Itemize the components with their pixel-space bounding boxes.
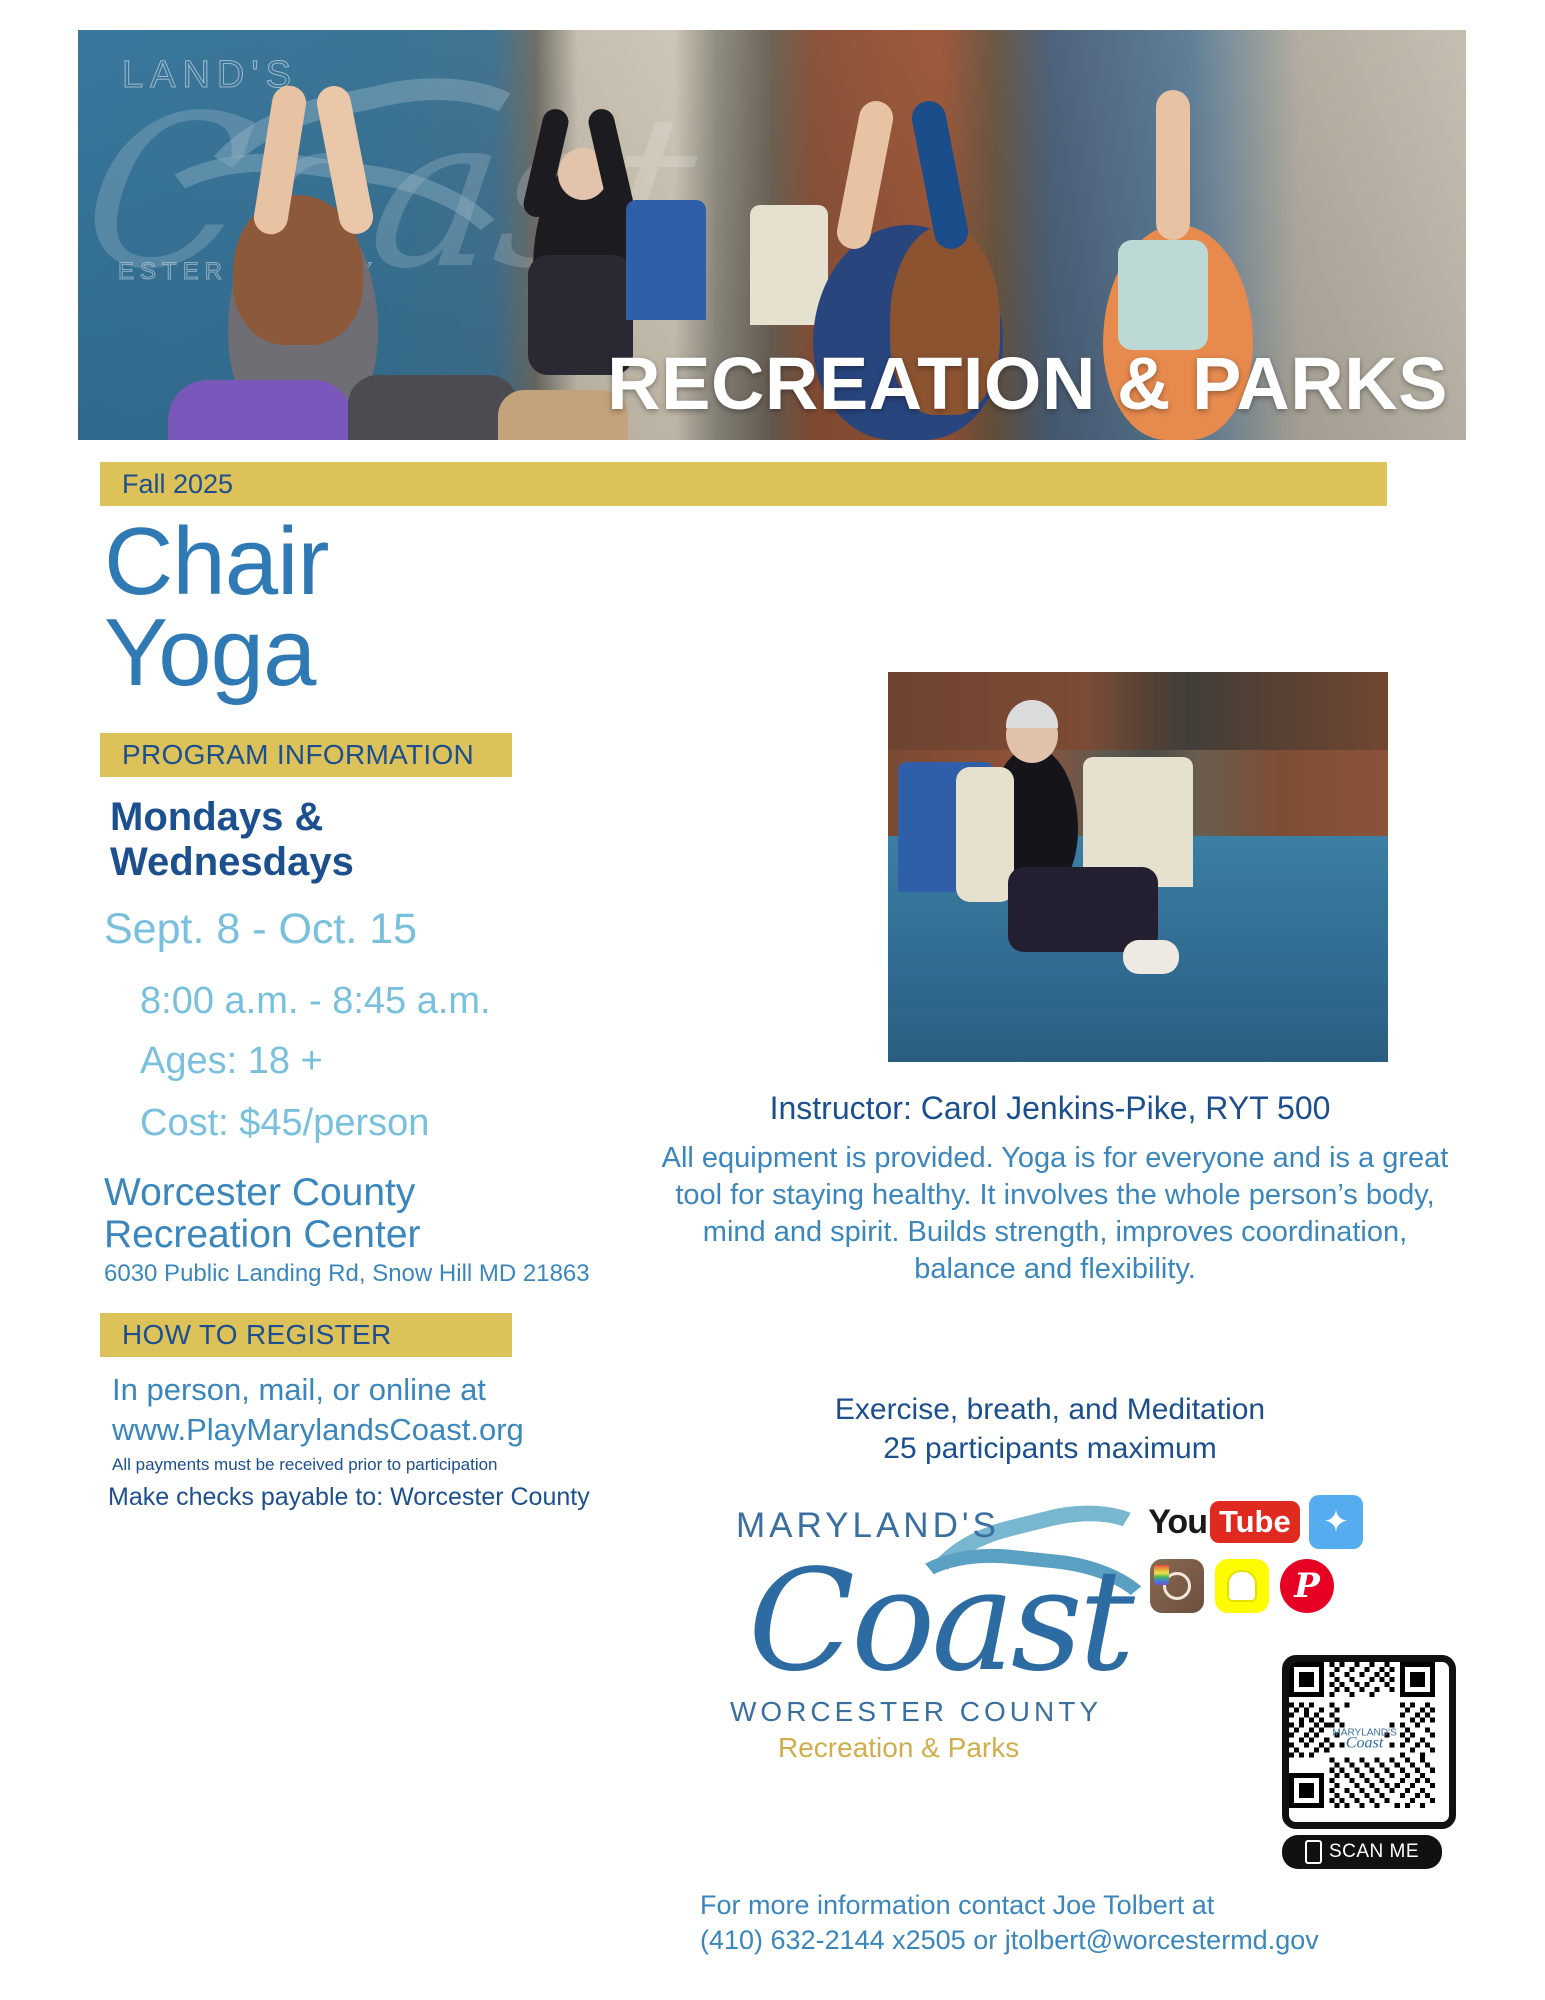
season-bar: Fall 2025 bbox=[100, 462, 1387, 506]
instagram-icon[interactable] bbox=[1150, 1559, 1204, 1613]
folding-chair-blue bbox=[626, 200, 706, 320]
program-time: 8:00 a.m. - 8:45 a.m. bbox=[140, 980, 600, 1023]
participant-purple bbox=[168, 380, 353, 440]
twitter-bird-glyph: ✦ bbox=[1323, 1504, 1349, 1540]
tagline-line1: Exercise, breath, and Meditation bbox=[700, 1390, 1400, 1429]
registration-payment-note: All payments must be received prior to p… bbox=[112, 1455, 592, 1475]
hero-title: RECREATION & PARKS bbox=[607, 341, 1448, 426]
season-label: Fall 2025 bbox=[122, 469, 233, 500]
venue-line2: Recreation Center bbox=[104, 1214, 574, 1256]
twitter-icon[interactable]: ✦ bbox=[1309, 1495, 1363, 1549]
venue-address: 6030 Public Landing Rd, Snow Hill MD 218… bbox=[104, 1260, 604, 1288]
participant-orange-arm bbox=[1156, 90, 1190, 240]
qr-code-svg: MARYLAND'S Coast bbox=[1289, 1662, 1435, 1808]
program-ages: Ages: 18 + bbox=[140, 1040, 600, 1083]
phone-icon bbox=[1305, 1840, 1322, 1864]
program-tagline: Exercise, breath, and Meditation 25 part… bbox=[700, 1390, 1400, 1468]
qr-code-image[interactable]: MARYLAND'S Coast bbox=[1282, 1655, 1456, 1829]
social-row-top: You Tube ✦ bbox=[1150, 1495, 1440, 1549]
contact-line2: (410) 632-2144 x2505 or jtolbert@worcest… bbox=[700, 1923, 1460, 1958]
photo-instructor-sock bbox=[1123, 940, 1179, 974]
contact-line1: For more information contact Joe Tolbert… bbox=[700, 1888, 1460, 1923]
photo-wall-upper bbox=[888, 672, 1388, 750]
program-information-label: PROGRAM INFORMATION bbox=[122, 739, 474, 771]
instagram-rainbow-bar bbox=[1154, 1565, 1169, 1585]
how-to-register-label: HOW TO REGISTER bbox=[122, 1319, 392, 1351]
qr-code-block[interactable]: MARYLAND'S Coast SCAN ME bbox=[1282, 1655, 1442, 1869]
folding-chair-cream bbox=[750, 205, 828, 325]
instructor-credit: Instructor: Carol Jenkins-Pike, RYT 500 bbox=[700, 1090, 1400, 1127]
venue-line1: Worcester County bbox=[104, 1172, 574, 1214]
page-title-line2: Yoga bbox=[104, 607, 584, 698]
page-title: Chair Yoga bbox=[104, 516, 584, 698]
registration-website-link[interactable]: www.PlayMarylandsCoast.org bbox=[112, 1410, 592, 1450]
participant-gray bbox=[348, 375, 518, 440]
how-to-register-bar: HOW TO REGISTER bbox=[100, 1313, 512, 1357]
youtube-tube-text: Tube bbox=[1210, 1501, 1300, 1543]
scan-me-label: SCAN ME bbox=[1329, 1841, 1419, 1863]
snapchat-icon[interactable] bbox=[1215, 1559, 1269, 1613]
instructor-photo bbox=[888, 672, 1388, 1062]
social-media-icons: You Tube ✦ P bbox=[1150, 1495, 1440, 1623]
venue-name: Worcester County Recreation Center bbox=[104, 1172, 574, 1256]
svg-text:Coast: Coast bbox=[1346, 1735, 1384, 1752]
logo-department-text: Recreation & Parks bbox=[778, 1732, 1019, 1764]
photo-instructor-jacket bbox=[956, 767, 1014, 902]
youtube-icon[interactable]: You Tube bbox=[1150, 1495, 1298, 1549]
logo-script-text: Coast bbox=[748, 1540, 1131, 1703]
hero-banner: LAND'S Coast ESTER COUNTY RECREATION & P… bbox=[78, 30, 1466, 440]
registration-line1: In person, mail, or online at bbox=[112, 1370, 592, 1410]
contact-info: For more information contact Joe Tolbert… bbox=[700, 1888, 1460, 1958]
pinterest-icon[interactable]: P bbox=[1280, 1559, 1334, 1613]
participant-teal bbox=[1118, 240, 1208, 350]
snapchat-ghost-glyph bbox=[1227, 1570, 1257, 1602]
youtube-you-text: You bbox=[1148, 1503, 1207, 1542]
scan-me-badge: SCAN ME bbox=[1282, 1835, 1442, 1869]
program-cost: Cost: $45/person bbox=[140, 1102, 600, 1145]
marylands-coast-logo: MARYLAND'S Coast WORCESTER COUNTY Recrea… bbox=[718, 1500, 1118, 1770]
registration-checks-note: Make checks payable to: Worcester County bbox=[108, 1483, 608, 1512]
pinterest-p-glyph: P bbox=[1294, 1566, 1320, 1606]
logo-county-text: WORCESTER COUNTY bbox=[730, 1696, 1102, 1728]
social-row-bottom: P bbox=[1150, 1559, 1440, 1613]
program-date-range: Sept. 8 - Oct. 15 bbox=[104, 905, 574, 954]
page-title-line1: Chair bbox=[104, 516, 584, 607]
program-description: All equipment is provided. Yoga is for e… bbox=[660, 1140, 1450, 1288]
program-information-bar: PROGRAM INFORMATION bbox=[100, 733, 512, 777]
program-days: Mondays & Wednesdays bbox=[110, 795, 530, 885]
registration-methods: In person, mail, or online at www.PlayMa… bbox=[112, 1370, 592, 1449]
tagline-line2: 25 participants maximum bbox=[700, 1429, 1400, 1468]
